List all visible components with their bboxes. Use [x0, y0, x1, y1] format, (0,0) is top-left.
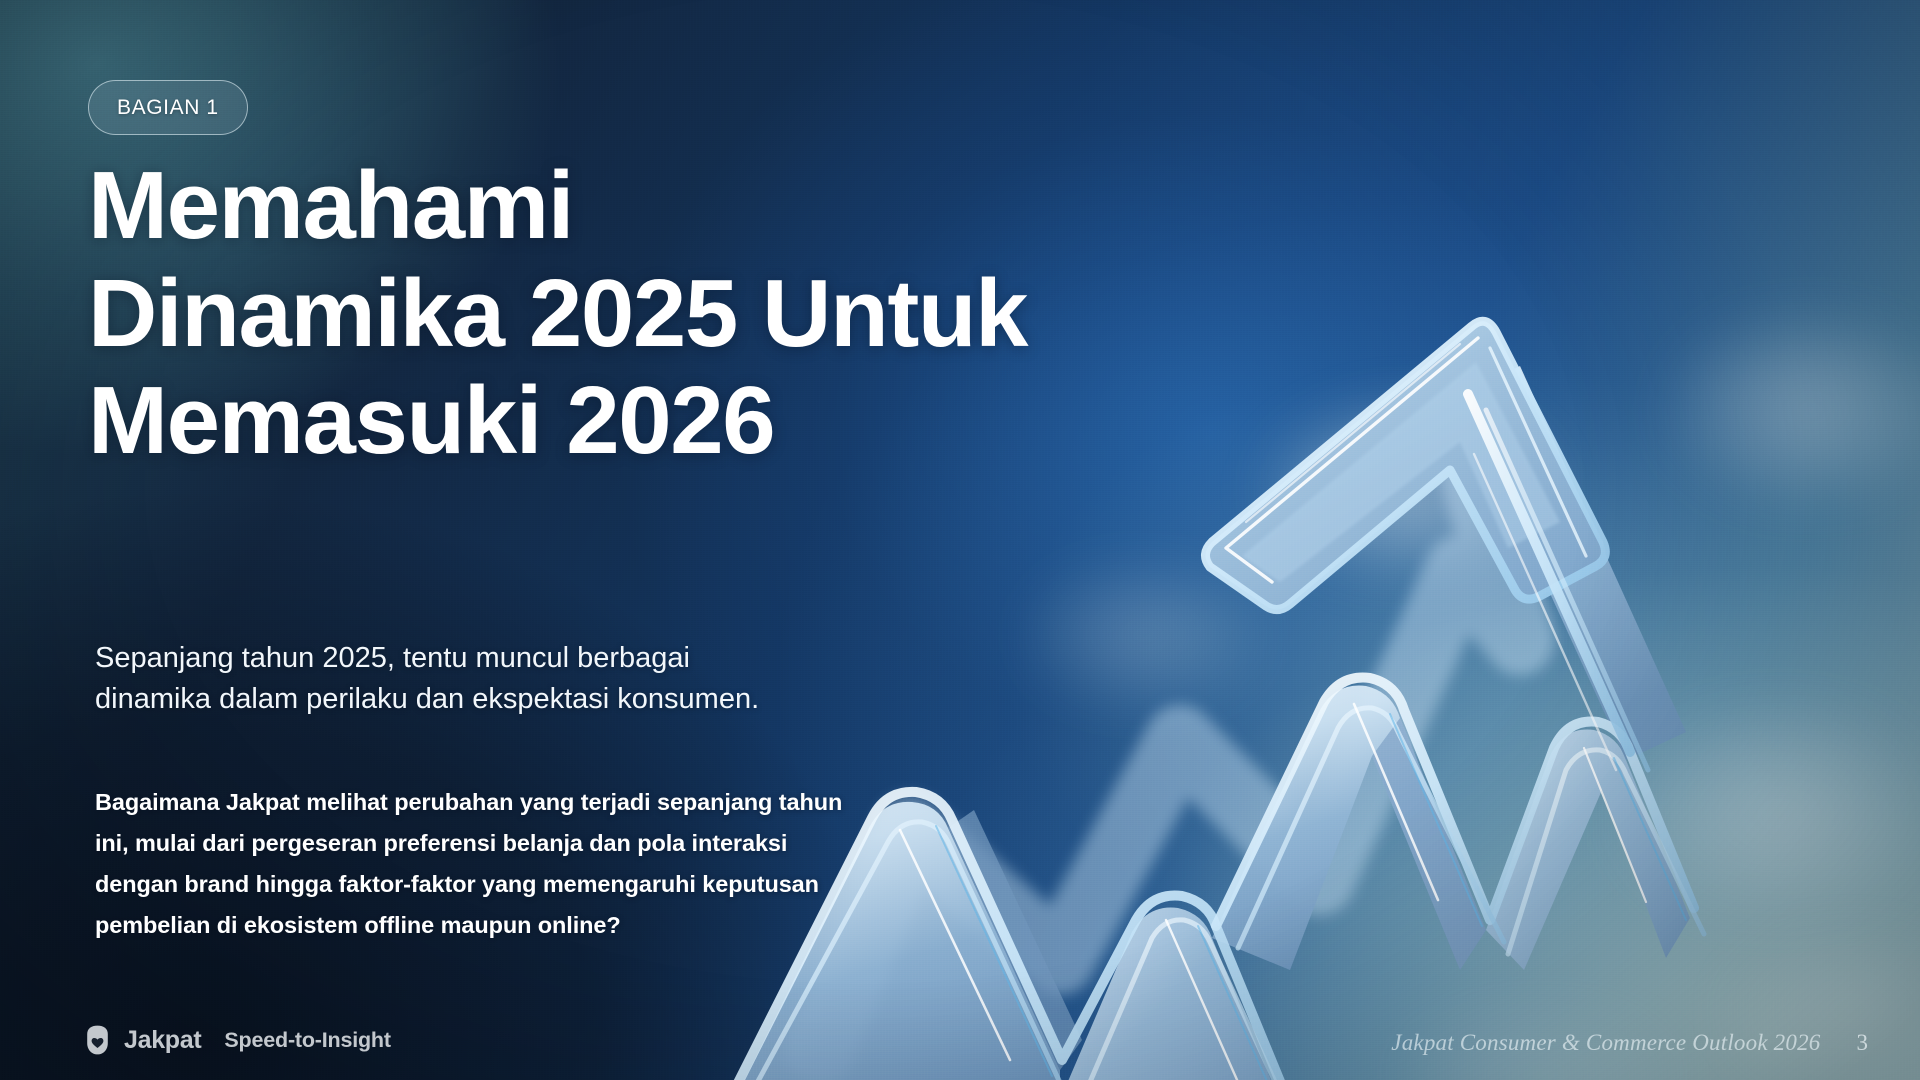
- jakpat-owl-icon: [84, 1025, 111, 1055]
- lead-paragraph-line-1: Sepanjang tahun 2025, tentu muncul berba…: [95, 638, 855, 679]
- slide-root: BAGIAN 1 Memahami Dinamika 2025 Untuk Me…: [0, 0, 1920, 1080]
- cloud-blur-2: [1660, 310, 1920, 510]
- cloud-blur-5: [1720, 930, 1920, 1080]
- slide-content: BAGIAN 1 Memahami Dinamika 2025 Untuk Me…: [0, 0, 1000, 1080]
- cloud-blur-3: [1610, 700, 1920, 930]
- question-paragraph-line-3: dengan brand hingga faktor-faktor yang m…: [95, 864, 855, 905]
- page-title-line-1: Memahami: [88, 152, 1208, 260]
- page-number: 3: [1857, 1030, 1869, 1056]
- question-paragraph-line-1: Bagaimana Jakpat melihat perubahan yang …: [95, 782, 855, 823]
- lead-paragraph: Sepanjang tahun 2025, tentu muncul berba…: [95, 638, 855, 720]
- question-paragraph-line-4: pembelian di ekosistem offline maupun on…: [95, 905, 855, 946]
- brand-tagline: Speed-to-Insight: [224, 1028, 390, 1053]
- page-title-line-3: Memasuki 2026: [88, 367, 1208, 475]
- question-paragraph: Bagaimana Jakpat melihat perubahan yang …: [95, 782, 855, 946]
- question-paragraph-line-2: ini, mulai dari pergeseran preferensi be…: [95, 823, 855, 864]
- brand-lockup: Jakpat Speed-to-Insight: [84, 1025, 391, 1055]
- cloud-blur-4: [1020, 560, 1270, 710]
- section-badge: BAGIAN 1: [88, 80, 248, 135]
- document-footer: Jakpat Consumer & Commerce Outlook 2026 …: [1391, 1030, 1868, 1056]
- section-badge-label: BAGIAN 1: [117, 96, 219, 120]
- lead-paragraph-line-2: dinamika dalam perilaku dan ekspektasi k…: [95, 679, 855, 720]
- page-title-line-2: Dinamika 2025 Untuk: [88, 260, 1208, 368]
- document-title: Jakpat Consumer & Commerce Outlook 2026: [1391, 1030, 1820, 1056]
- brand-wordmark: Jakpat: [124, 1026, 201, 1055]
- cloud-blur-1: [1260, 400, 1560, 580]
- page-title: Memahami Dinamika 2025 Untuk Memasuki 20…: [88, 152, 1208, 475]
